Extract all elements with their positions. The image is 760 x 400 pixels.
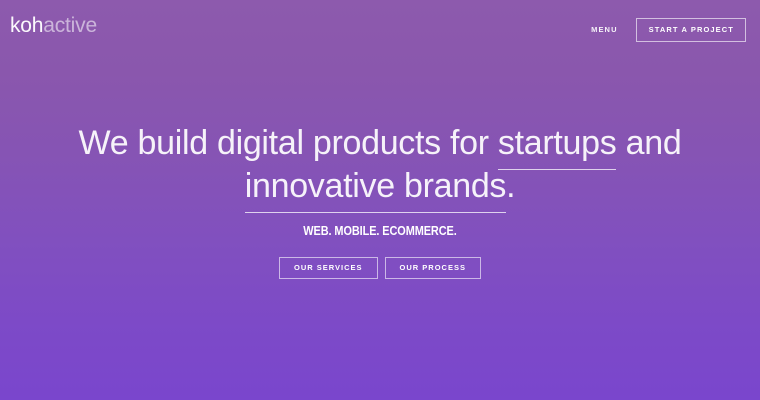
logo-text-secondary: active: [43, 14, 97, 38]
our-services-button[interactable]: OUR SERVICES: [279, 257, 378, 279]
menu-button[interactable]: MENU: [591, 25, 617, 35]
header-actions: MENU START A PROJECT: [591, 14, 752, 42]
headline-emphasis-innovative-brands: innovative brands: [245, 167, 506, 205]
logo-text-primary: koh: [10, 14, 43, 38]
headline-emphasis-startups: startups: [498, 124, 617, 162]
hero-content: We build digital products for startups a…: [0, 122, 760, 279]
our-process-button[interactable]: OUR PROCESS: [385, 257, 481, 279]
hero-headline: We build digital products for startups a…: [0, 122, 760, 208]
start-a-project-button[interactable]: START A PROJECT: [636, 18, 746, 42]
hero-section: kohactive MENU START A PROJECT We build …: [0, 0, 760, 400]
headline-part-3: .: [506, 167, 515, 205]
site-logo[interactable]: kohactive: [10, 14, 97, 38]
headline-part-2: and: [616, 124, 681, 162]
hero-subheadline: WEB. MOBILE. ECOMMERCE.: [61, 223, 699, 239]
headline-part-1: We build digital products for: [79, 124, 498, 162]
site-header: kohactive MENU START A PROJECT: [0, 0, 760, 56]
hero-button-group: OUR SERVICES OUR PROCESS: [0, 257, 760, 279]
